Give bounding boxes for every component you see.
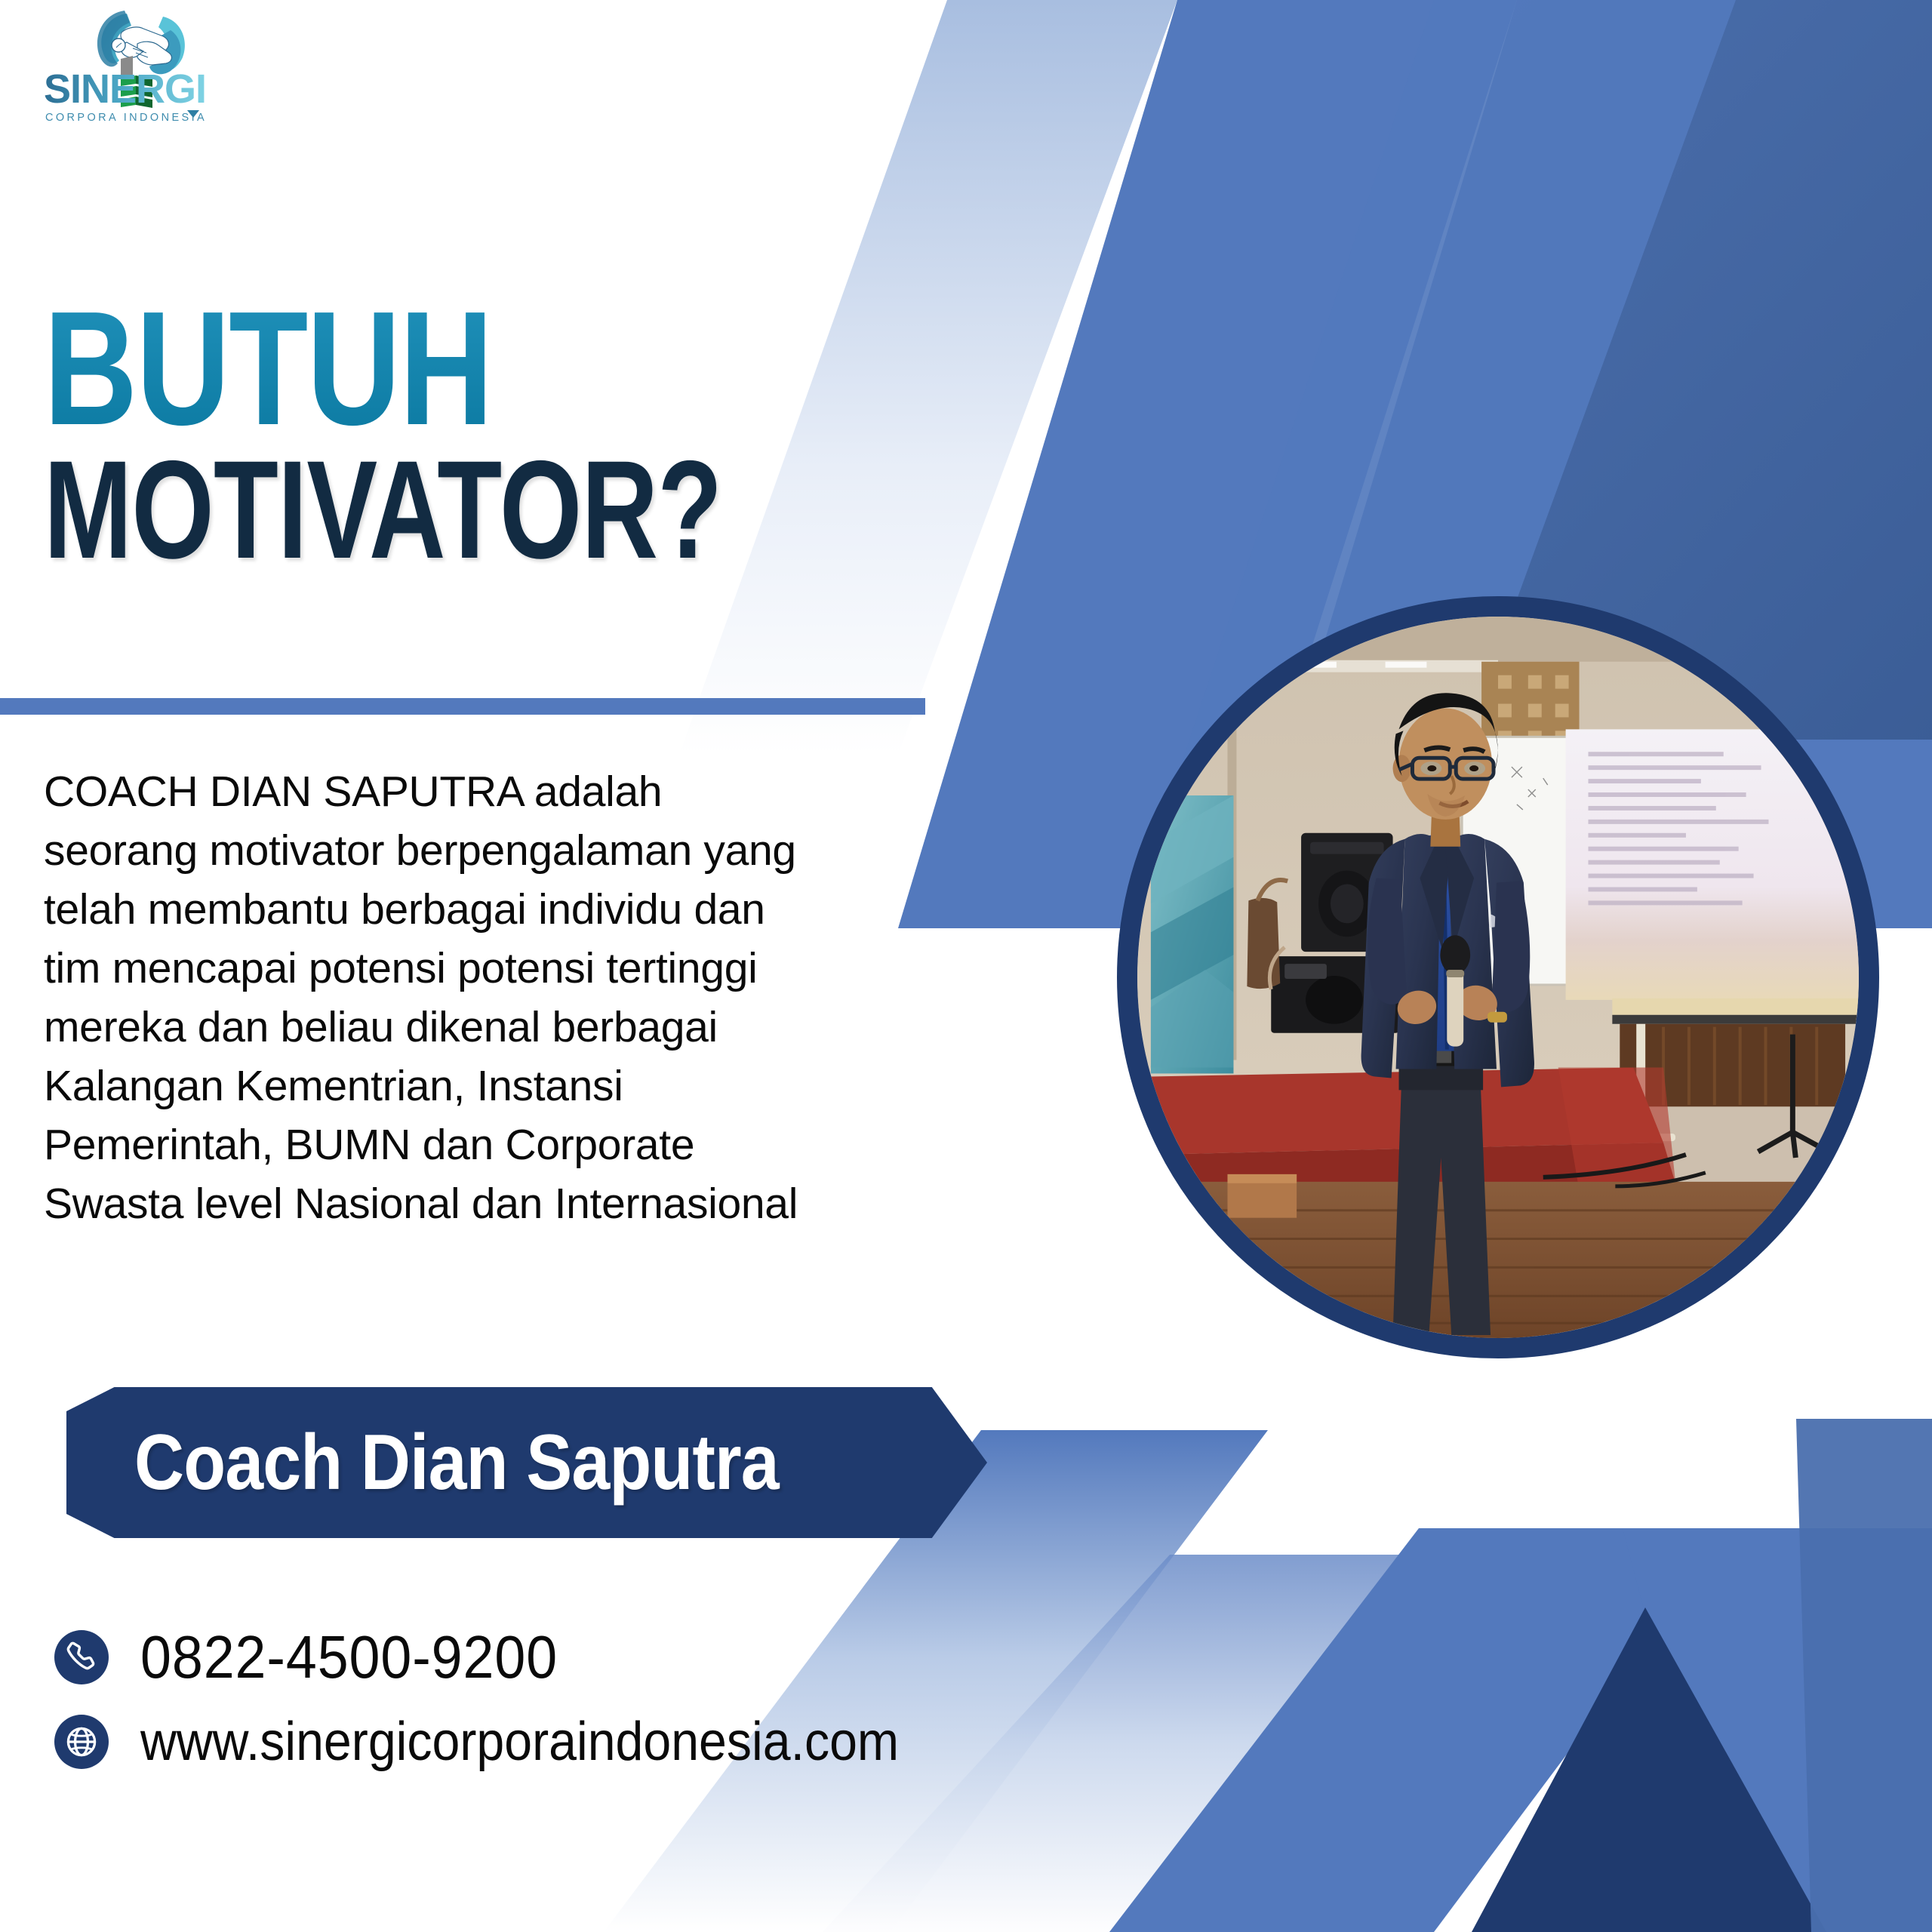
- phone-number: 0822-4500-9200: [140, 1623, 558, 1692]
- photo-image: [1137, 617, 1859, 1338]
- headline-line-1: BUTUH: [44, 300, 758, 437]
- logo-tagline: CORPORA INDONESIA: [45, 112, 207, 124]
- globe-icon: [54, 1715, 109, 1769]
- description-line: Kalangan Kementrian, Instansi: [44, 1057, 980, 1115]
- photo-ring: [1117, 596, 1879, 1358]
- page-title: BUTUH MOTIVATOR?: [44, 300, 936, 574]
- website-url: www.sinergicorporaindonesia.com: [140, 1711, 899, 1773]
- headline-divider: [0, 698, 925, 715]
- contact-row-phone[interactable]: 0822-4500-9200: [54, 1615, 965, 1700]
- description-line: Swasta level Nasional dan Internasional: [44, 1174, 980, 1233]
- phone-icon: [54, 1630, 109, 1684]
- contact-row-website[interactable]: www.sinergicorporaindonesia.com: [54, 1700, 965, 1784]
- headline-line-2: MOTIVATOR?: [44, 446, 721, 574]
- description-line: COACH DIAN SAPUTRA adalah: [44, 762, 980, 821]
- poster-canvas: SINERGI CORPORA INDONESIA BUTUH MOTIVATO…: [0, 0, 1932, 1932]
- brand-logo: SINERGI CORPORA INDONESIA: [23, 6, 249, 134]
- description-text: COACH DIAN SAPUTRA adalah seorang motiva…: [44, 762, 980, 1233]
- name-banner: Coach Dian Saputra: [66, 1387, 987, 1538]
- description-line: seorang motivator berpengalaman yang: [44, 821, 980, 880]
- logo-wordmark: SINERGI: [44, 66, 206, 112]
- description-line: tim mencapai potensi potensi tertinggi: [44, 939, 980, 998]
- contact-block: 0822-4500-9200 www.sinergicorporaindones…: [54, 1615, 965, 1784]
- description-line: mereka dan beliau dikenal berbagai: [44, 998, 980, 1057]
- coach-name-label: Coach Dian Saputra: [134, 1418, 779, 1508]
- speaker-photo: [1117, 596, 1879, 1358]
- description-line: Pemerintah, BUMN dan Corporate: [44, 1115, 980, 1174]
- description-line: telah membantu berbagai individu dan: [44, 880, 980, 939]
